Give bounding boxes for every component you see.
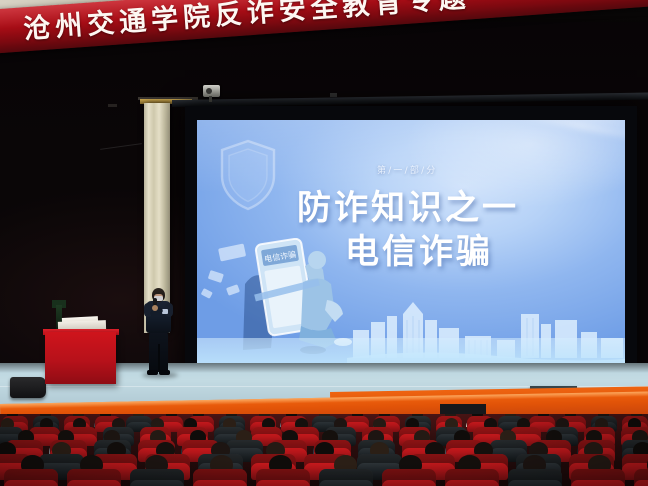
projection-screen: 电信诈骗 bbox=[197, 120, 625, 363]
audience-vignette bbox=[0, 414, 648, 486]
shield-icon bbox=[217, 138, 279, 212]
presenter-shoe bbox=[159, 370, 170, 375]
ceiling-fixture bbox=[330, 93, 337, 97]
camera-lens-icon bbox=[206, 88, 212, 94]
slide-title-line-1: 防诈知识之一 bbox=[297, 180, 625, 229]
slide-section-kicker: 第/一/部/分 bbox=[377, 163, 537, 176]
presenter-figure bbox=[138, 288, 178, 376]
red-draped-table bbox=[45, 332, 116, 384]
auditorium-photo: 沧州交通学院反诈安全教育专题 bbox=[0, 0, 648, 486]
presenter-shoe bbox=[147, 370, 158, 375]
presenter-leg-gap bbox=[158, 344, 160, 372]
camera-mount bbox=[209, 96, 212, 102]
slide-title-line-2: 电信诈骗 bbox=[345, 224, 625, 273]
slide-ground-haze bbox=[197, 338, 625, 363]
floor-monitor-left bbox=[10, 377, 46, 398]
presenter-hand bbox=[152, 305, 158, 311]
ceiling-fixture bbox=[108, 104, 117, 107]
